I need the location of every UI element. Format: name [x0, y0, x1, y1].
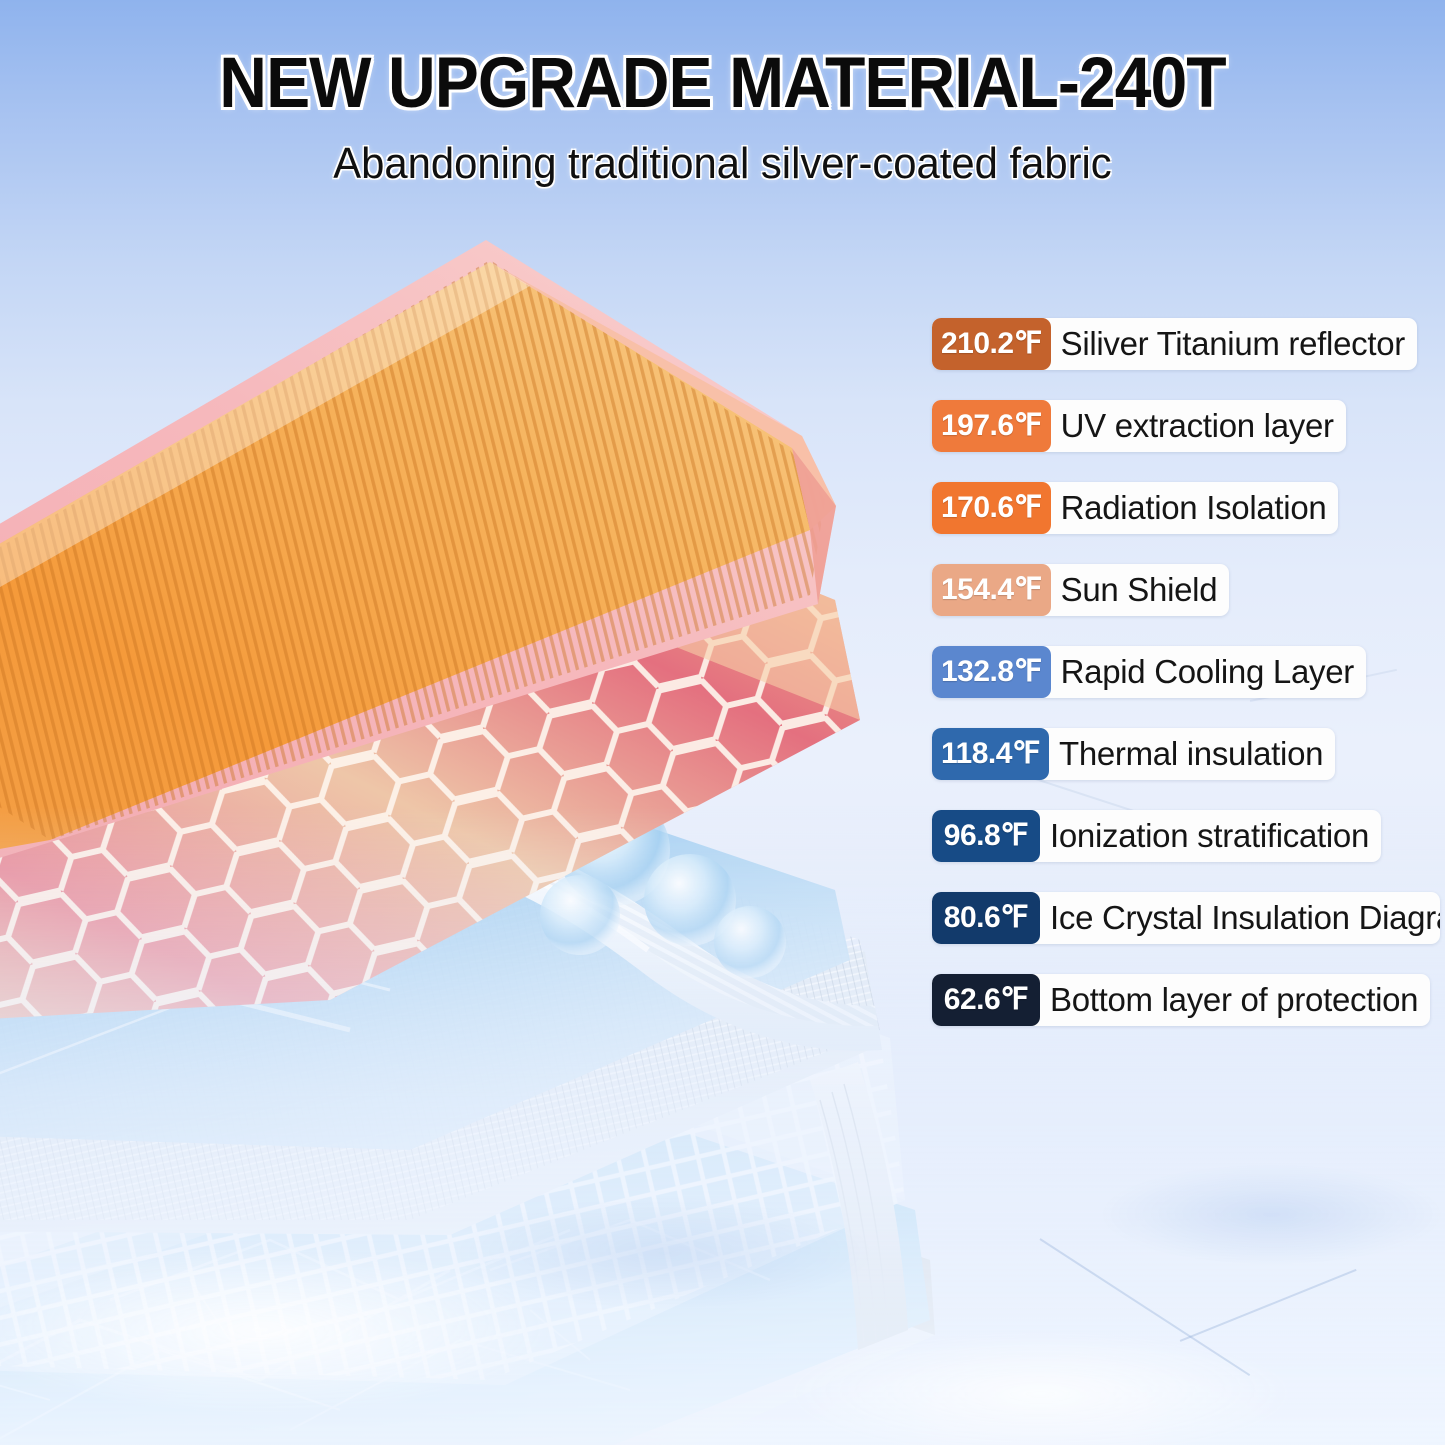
status-badge: 154.4℉	[932, 564, 1051, 616]
ice-crystal-base-layer	[0, 1080, 930, 1445]
legend-pill: 62.6℉ Bottom layer of protection	[932, 974, 1430, 1026]
silver-titanium-reflector-layer	[0, 200, 970, 926]
bottom-protection-layer	[0, 1130, 935, 1445]
legend-label: Sun Shield	[1051, 564, 1230, 616]
status-badge: 118.4℉	[932, 728, 1049, 780]
legend-label: Bottom layer of protection	[1040, 974, 1430, 1026]
radiation-isolation-bubble-layer	[0, 628, 786, 978]
legend-pill: 154.4℉ Sun Shield	[932, 564, 1229, 616]
legend-label: Ice Crystal Insulation Diagram	[1040, 892, 1440, 944]
list-item: 118.4℉ Thermal insulation	[932, 728, 1335, 780]
ice-crack	[1180, 1269, 1357, 1342]
legend-pill: 96.8℉ Ionization stratification	[932, 810, 1381, 862]
list-item: 80.6℉ Ice Crystal Insulation Diagram	[932, 892, 1440, 944]
uv-extraction-honeycomb-layer	[0, 440, 970, 1080]
ionization-mesh-grid-layer	[0, 820, 970, 1445]
list-item: 62.6℉ Bottom layer of protection	[932, 974, 1430, 1026]
status-badge: 96.8℉	[932, 810, 1040, 862]
legend-label: Thermal insulation	[1049, 728, 1335, 780]
legend-pill: 132.8℉ Rapid Cooling Layer	[932, 646, 1366, 698]
page-subtitle: Abandoning traditional silver-coated fab…	[36, 142, 1409, 186]
status-badge: 197.6℉	[932, 400, 1051, 452]
status-badge: 62.6℉	[932, 974, 1040, 1026]
status-badge: 210.2℉	[932, 318, 1051, 370]
legend-label: Siliver Titanium reflector	[1051, 318, 1417, 370]
list-item: 154.4℉ Sun Shield	[932, 564, 1229, 616]
layer-stack-spine	[810, 1062, 908, 1350]
status-badge: 170.6℉	[932, 482, 1051, 534]
ice-crack	[1039, 1238, 1250, 1376]
legend-pill: 210.2℉ Siliver Titanium reflector	[932, 318, 1417, 370]
sun-shield-membrane-layer	[0, 811, 882, 1050]
legend-pill: 80.6℉ Ice Crystal Insulation Diagram	[932, 892, 1440, 944]
list-item: 170.6℉ Radiation Isolation	[932, 482, 1338, 534]
legend-pill: 197.6℉ UV extraction layer	[932, 400, 1346, 452]
page-title: NEW UPGRADE MATERIAL-240T	[51, 48, 1395, 119]
list-item: 96.8℉ Ionization stratification	[932, 810, 1381, 862]
temperature-legend-list: 210.2℉ Siliver Titanium reflector 197.6℉…	[932, 318, 1442, 1056]
list-item: 197.6℉ UV extraction layer	[932, 400, 1346, 452]
status-badge: 132.8℉	[932, 646, 1051, 698]
list-item: 132.8℉ Rapid Cooling Layer	[932, 646, 1366, 698]
rapid-cooling-blue-layer	[0, 760, 850, 1150]
legend-label: Rapid Cooling Layer	[1051, 646, 1366, 698]
legend-label: Radiation Isolation	[1051, 482, 1339, 534]
product-cross-section-image	[0, 200, 970, 1445]
legend-pill: 170.6℉ Radiation Isolation	[932, 482, 1338, 534]
legend-label: UV extraction layer	[1051, 400, 1346, 452]
status-badge: 80.6℉	[932, 892, 1040, 944]
legend-label: Ionization stratification	[1040, 810, 1381, 862]
thermal-insulation-weave-layer	[0, 760, 970, 1320]
infographic-canvas: NEW UPGRADE MATERIAL-240T Abandoning tra…	[0, 0, 1445, 1445]
legend-pill: 118.4℉ Thermal insulation	[932, 728, 1335, 780]
list-item: 210.2℉ Siliver Titanium reflector	[932, 318, 1417, 370]
